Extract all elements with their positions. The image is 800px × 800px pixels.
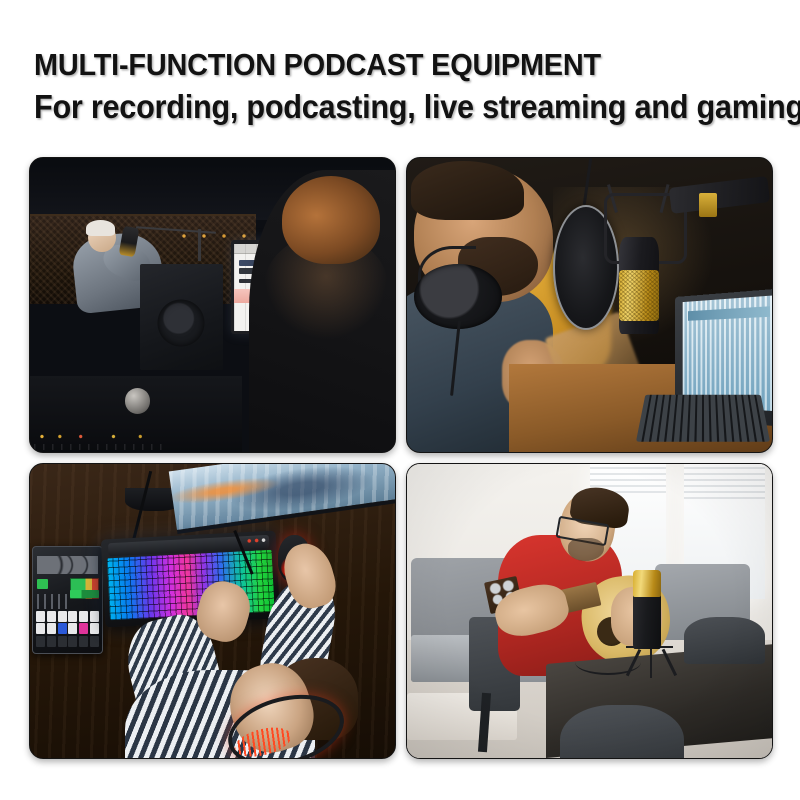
live-sound-card-mixer <box>32 546 103 654</box>
speaker-cone <box>158 300 205 347</box>
mixer-pad[interactable] <box>58 636 67 647</box>
mixer-pad[interactable] <box>68 636 77 647</box>
scene-home-music-session <box>407 464 772 758</box>
boom-arm-gold-joint <box>699 193 717 217</box>
console-knob <box>125 388 151 414</box>
studio-monitor-speaker <box>140 264 224 370</box>
console-faders <box>34 444 165 450</box>
mixer-pad[interactable] <box>47 611 56 622</box>
promo-heading: MULTI-FUNCTION PODCAST EQUIPMENT For rec… <box>34 46 794 127</box>
mixer-pad[interactable] <box>90 623 99 634</box>
warm-string-lights <box>176 232 256 241</box>
mixer-pad[interactable] <box>79 611 88 622</box>
podcast-host-hair <box>411 161 524 220</box>
gallery-panel-live-streaming[interactable] <box>406 463 773 759</box>
laptop-keyboard <box>636 395 770 442</box>
mixer-pad[interactable] <box>68 623 77 634</box>
console-led-indicators <box>36 434 184 439</box>
photo-vignette <box>407 464 772 758</box>
mixer-rotary-knobs[interactable] <box>37 556 98 574</box>
mixer-pad[interactable] <box>58 611 67 622</box>
scene-podcasting <box>407 158 772 452</box>
gallery-panel-recording-studio[interactable] <box>29 157 396 453</box>
mixing-console <box>30 376 242 452</box>
mixer-pad[interactable] <box>47 623 56 634</box>
gold-condenser-microphone <box>619 237 659 334</box>
scene-recording-studio <box>30 158 395 452</box>
mixer-pad[interactable] <box>58 623 67 634</box>
mixer-pad[interactable] <box>36 636 45 647</box>
over-ear-headphones <box>414 264 502 329</box>
page-subtitle: For recording, podcasting, live streamin… <box>34 87 741 127</box>
mixer-green-button[interactable] <box>37 579 48 589</box>
mixer-pad[interactable] <box>47 636 56 647</box>
gallery-panel-podcasting[interactable] <box>406 157 773 453</box>
page-title: MULTI-FUNCTION PODCAST EQUIPMENT <box>34 46 741 84</box>
mixer-pad[interactable] <box>90 611 99 622</box>
gallery-panel-gaming[interactable] <box>29 463 396 759</box>
engineer-head <box>282 176 381 264</box>
microphone-gold-grille <box>619 270 659 320</box>
mixer-pad[interactable] <box>36 623 45 634</box>
mixer-pad[interactable] <box>36 611 45 622</box>
keyboard-indicator-leds <box>245 537 266 544</box>
scene-gaming <box>30 464 395 758</box>
mixer-led-level-meter <box>70 590 99 598</box>
mixer-pad[interactable] <box>79 636 88 647</box>
mixer-pad[interactable] <box>68 611 77 622</box>
photo-gallery-grid <box>29 157 773 769</box>
rgb-gaming-keyboard[interactable] <box>101 530 281 627</box>
vocalist-hair <box>86 220 115 236</box>
mixer-sliders[interactable] <box>37 594 68 609</box>
grille-mesh-pattern <box>619 270 659 320</box>
mixer-sound-pads[interactable] <box>36 611 98 647</box>
mixer-pad[interactable] <box>79 623 88 634</box>
mixer-pad[interactable] <box>90 636 99 647</box>
boom-arm <box>669 176 770 214</box>
